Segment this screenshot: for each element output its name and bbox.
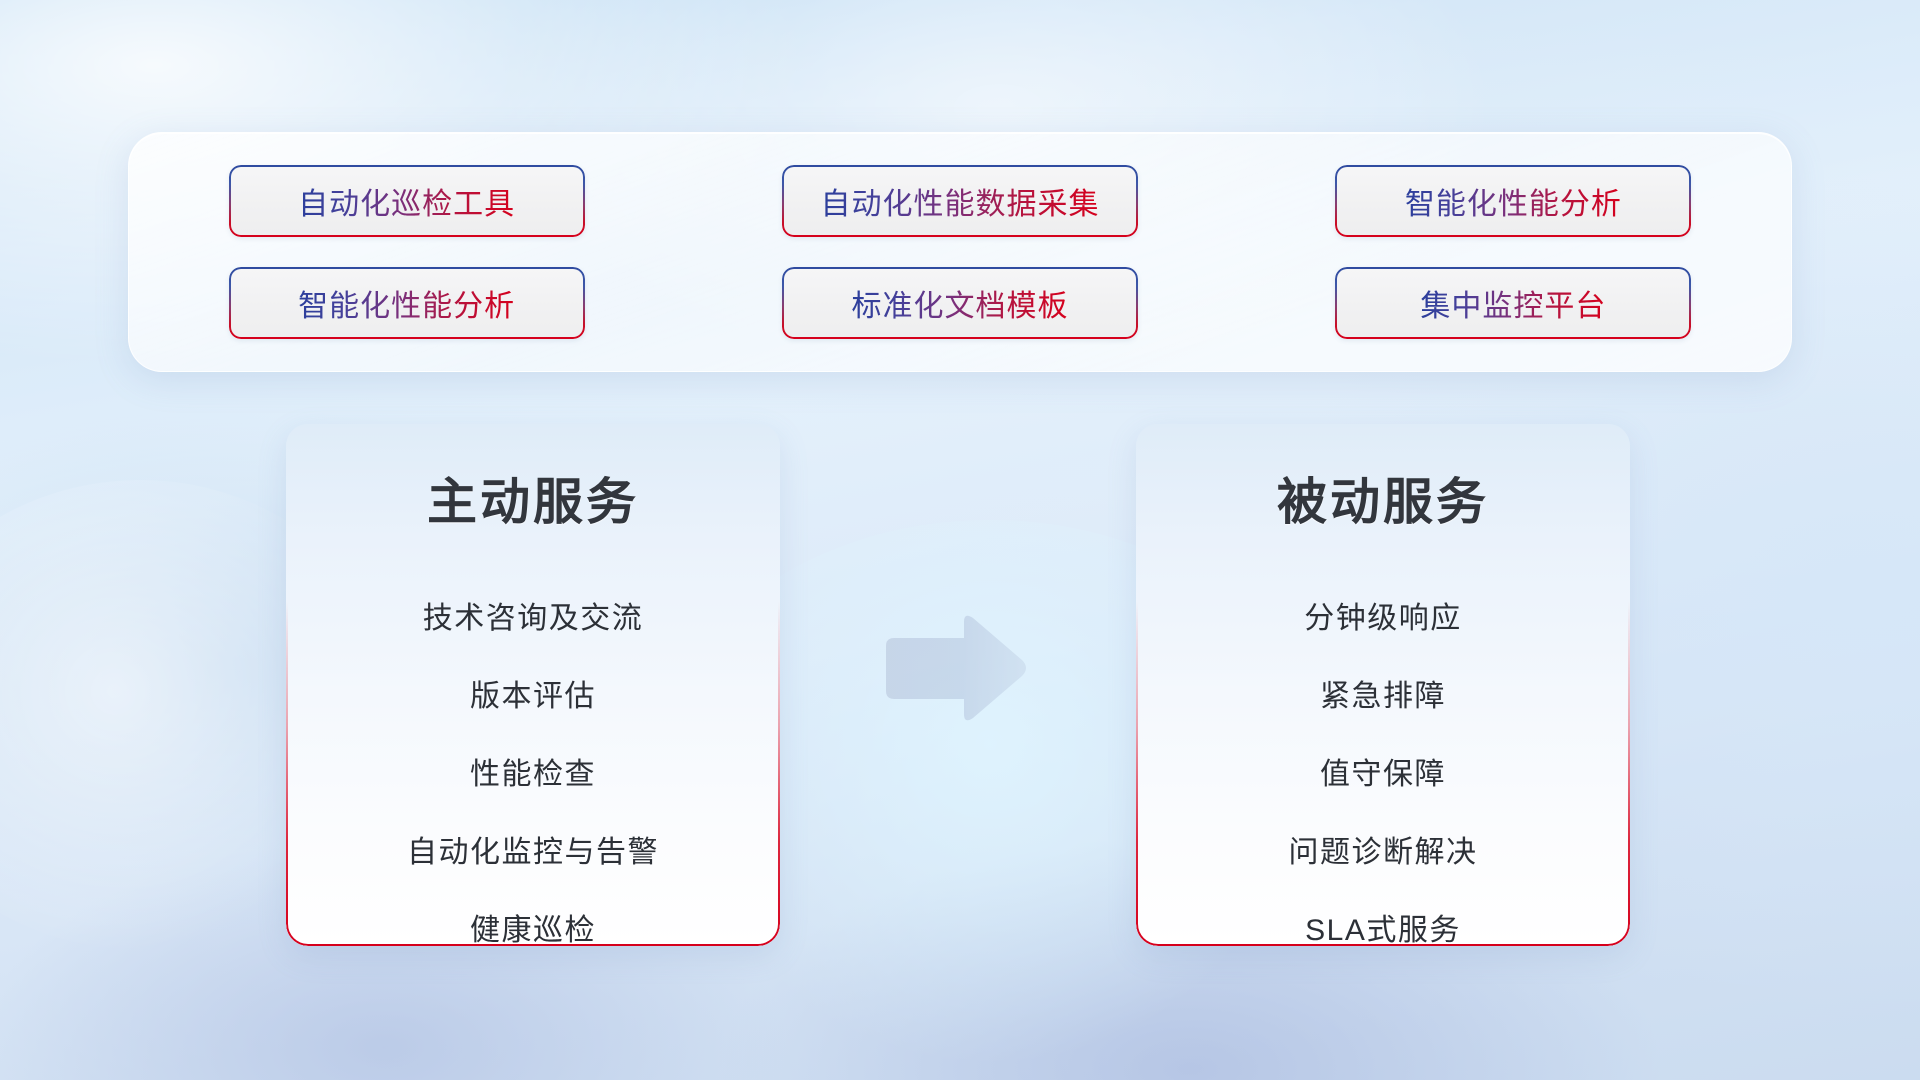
service-list-item: 健康巡检 — [470, 892, 596, 946]
capability-pill[interactable]: 标准化文档模板 — [782, 267, 1138, 339]
service-list-item: 分钟级响应 — [1304, 580, 1462, 658]
service-list-item: 技术咨询及交流 — [423, 580, 644, 658]
capability-pill-label: 自动化巡检工具 — [298, 179, 515, 223]
capability-pill[interactable]: 智能化性能分析 — [229, 267, 585, 339]
service-card-proactive: 主动服务 技术咨询及交流 版本评估 性能检查 自动化监控与告警 健康巡检 — [286, 424, 780, 946]
service-list-item: SLA式服务 — [1305, 892, 1461, 946]
capability-pill[interactable]: 集中监控平台 — [1335, 267, 1691, 339]
capability-pill-grid: 自动化巡检工具 自动化性能数据采集 智能化性能分析 智能化性能分析 标准化文档模… — [129, 133, 1791, 371]
service-list-item: 自动化监控与告警 — [407, 814, 659, 892]
capability-pill-label: 自动化性能数据采集 — [820, 179, 1099, 223]
capability-pill-label: 标准化文档模板 — [851, 281, 1068, 325]
capability-pill-label: 智能化性能分析 — [1405, 179, 1622, 223]
service-card-title: 被动服务 — [1277, 462, 1489, 534]
service-list-item: 问题诊断解决 — [1289, 814, 1478, 892]
capability-pill[interactable]: 自动化性能数据采集 — [782, 165, 1138, 237]
service-list-item: 紧急排障 — [1320, 658, 1446, 736]
service-card-reactive: 被动服务 分钟级响应 紧急排障 值守保障 问题诊断解决 SLA式服务 — [1136, 424, 1630, 946]
service-item-list: 分钟级响应 紧急排障 值守保障 问题诊断解决 SLA式服务 — [1136, 580, 1630, 946]
capability-pill[interactable]: 智能化性能分析 — [1335, 165, 1691, 237]
capability-pill-label: 集中监控平台 — [1420, 281, 1606, 325]
service-list-item: 值守保障 — [1320, 736, 1446, 814]
service-list-item: 版本评估 — [470, 658, 596, 736]
right-arrow-icon — [872, 610, 1030, 728]
service-item-list: 技术咨询及交流 版本评估 性能检查 自动化监控与告警 健康巡检 — [286, 580, 780, 946]
service-list-item: 性能检查 — [470, 736, 596, 814]
capability-pill[interactable]: 自动化巡检工具 — [229, 165, 585, 237]
capability-pill-label: 智能化性能分析 — [298, 281, 515, 325]
capability-panel: 自动化巡检工具 自动化性能数据采集 智能化性能分析 智能化性能分析 标准化文档模… — [128, 132, 1792, 372]
service-card-title: 主动服务 — [427, 462, 639, 534]
